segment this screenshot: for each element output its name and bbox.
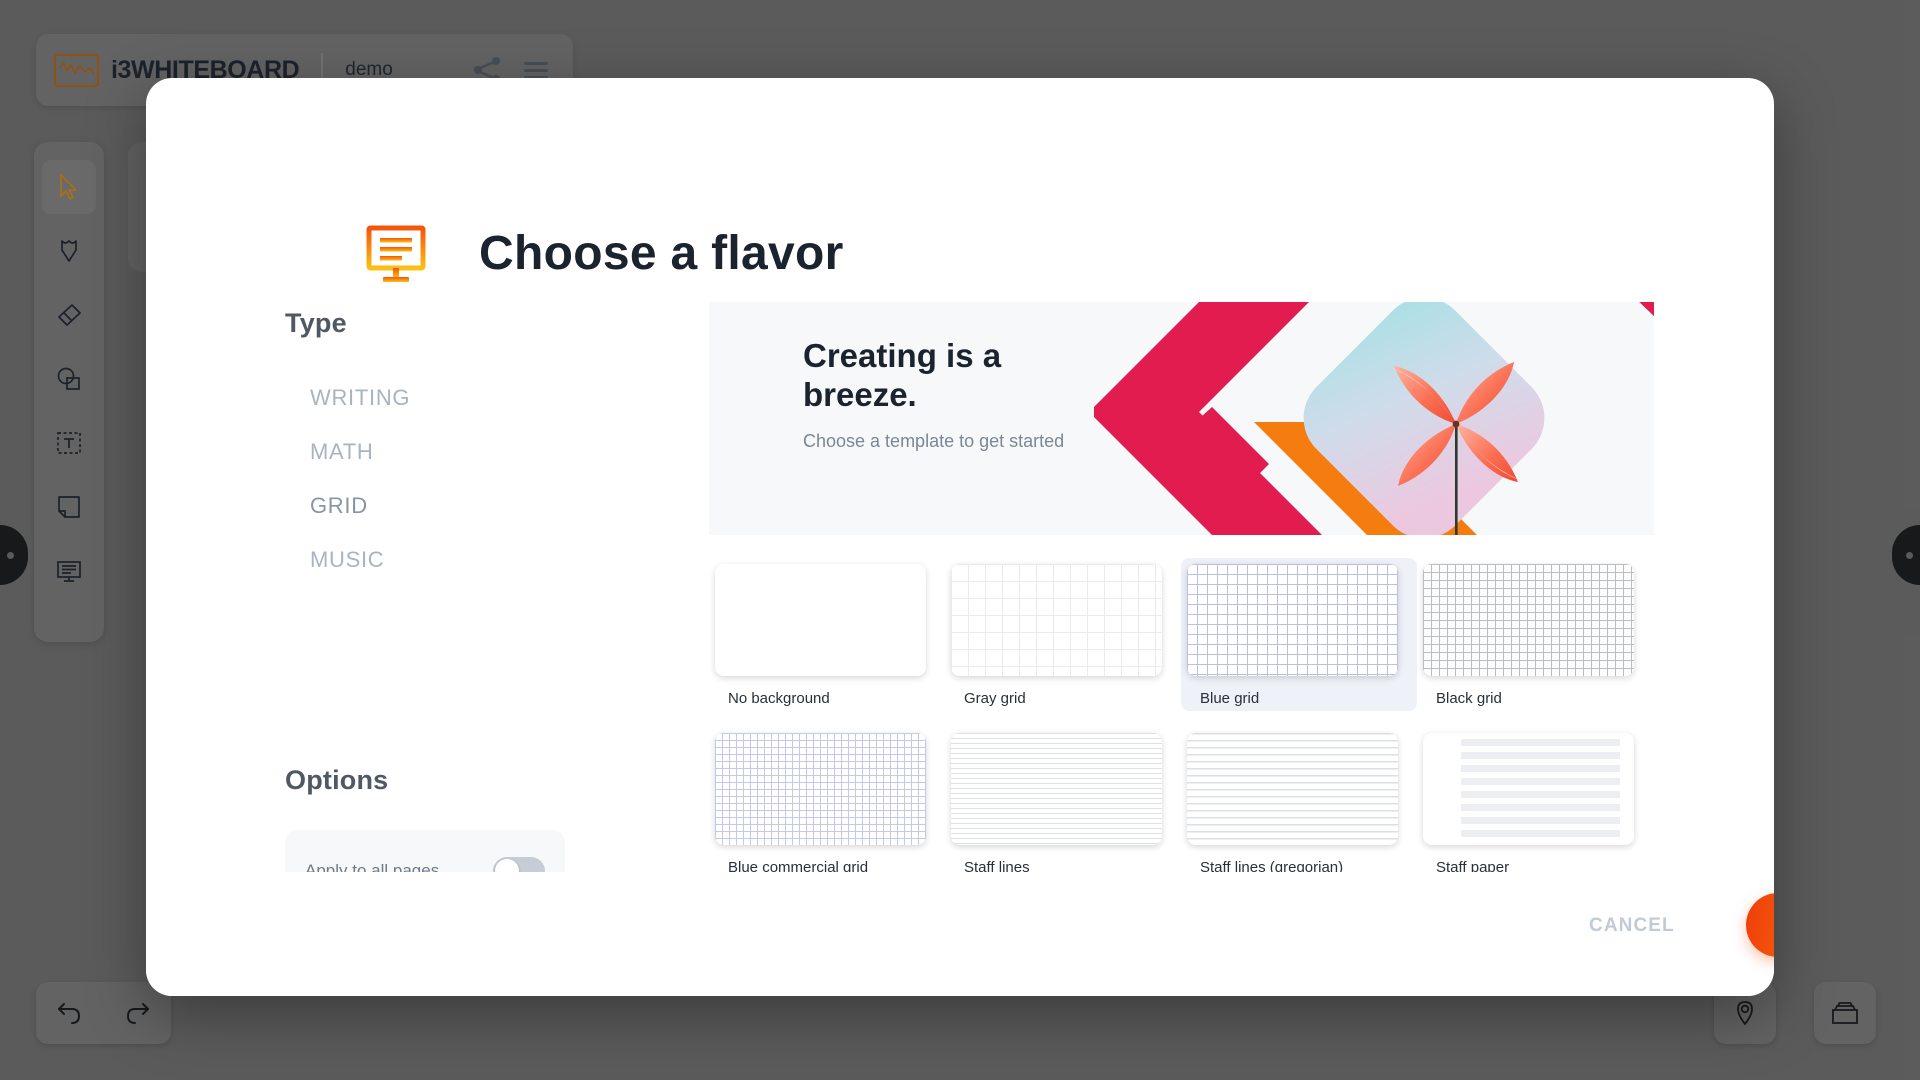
template-thumbnail xyxy=(951,564,1162,676)
banner-title: Creating is a breeze. xyxy=(803,337,1053,415)
dialog-right-pane[interactable]: Creating is a breeze. Choose a template … xyxy=(709,226,1774,966)
template-thumbnail xyxy=(715,733,926,845)
options-heading: Options xyxy=(285,765,706,796)
dialog-left-pane: Type WRITING MATH GRID MUSIC Options App… xyxy=(146,308,706,912)
presentation-screen-icon xyxy=(364,224,428,291)
type-item-math[interactable]: MATH xyxy=(310,425,706,479)
template-label: Blue grid xyxy=(1200,690,1417,707)
template-card-black-grid[interactable]: Black grid xyxy=(1417,558,1653,711)
template-card-staff-lines[interactable]: Staff lines xyxy=(945,727,1181,880)
template-label: Black grid xyxy=(1436,690,1653,707)
pinwheel-chevrons-graphic xyxy=(1094,302,1654,535)
template-thumbnail xyxy=(715,564,926,676)
template-label: No background xyxy=(728,690,945,707)
banner-subtitle: Choose a template to get started xyxy=(803,429,1064,453)
dialog-footer: CANCEL APPLY xyxy=(146,872,1774,996)
promo-banner: Creating is a breeze. Choose a template … xyxy=(709,302,1654,535)
type-item-music[interactable]: MUSIC xyxy=(310,533,706,587)
template-card-blue-commercial-grid[interactable]: Blue commercial grid xyxy=(709,727,945,880)
template-card-no-background[interactable]: No background xyxy=(709,558,945,711)
template-thumbnail xyxy=(1187,564,1398,676)
type-item-writing[interactable]: WRITING xyxy=(310,371,706,425)
template-thumbnail xyxy=(1187,733,1398,845)
template-thumbnail xyxy=(951,733,1162,845)
template-thumbnail xyxy=(1423,564,1634,676)
choose-flavor-dialog: Choose a flavor Type WRITING MATH GRID M… xyxy=(146,78,1774,996)
template-card-gray-grid[interactable]: Gray grid xyxy=(945,558,1181,711)
cancel-button[interactable]: CANCEL xyxy=(1589,915,1675,937)
template-card-blue-grid[interactable]: Blue grid xyxy=(1181,558,1417,711)
template-thumbnail xyxy=(1423,733,1634,845)
template-card-staff-lines-gregorian[interactable]: Staff lines (gregorian) xyxy=(1181,727,1417,880)
template-label: Gray grid xyxy=(964,690,1181,707)
template-card-staff-paper[interactable]: Staff paper xyxy=(1417,727,1653,880)
type-list: WRITING MATH GRID MUSIC xyxy=(146,371,706,587)
type-heading: Type xyxy=(285,308,706,339)
type-item-grid[interactable]: GRID xyxy=(310,479,706,533)
apply-button[interactable]: APPLY xyxy=(1746,893,1774,957)
